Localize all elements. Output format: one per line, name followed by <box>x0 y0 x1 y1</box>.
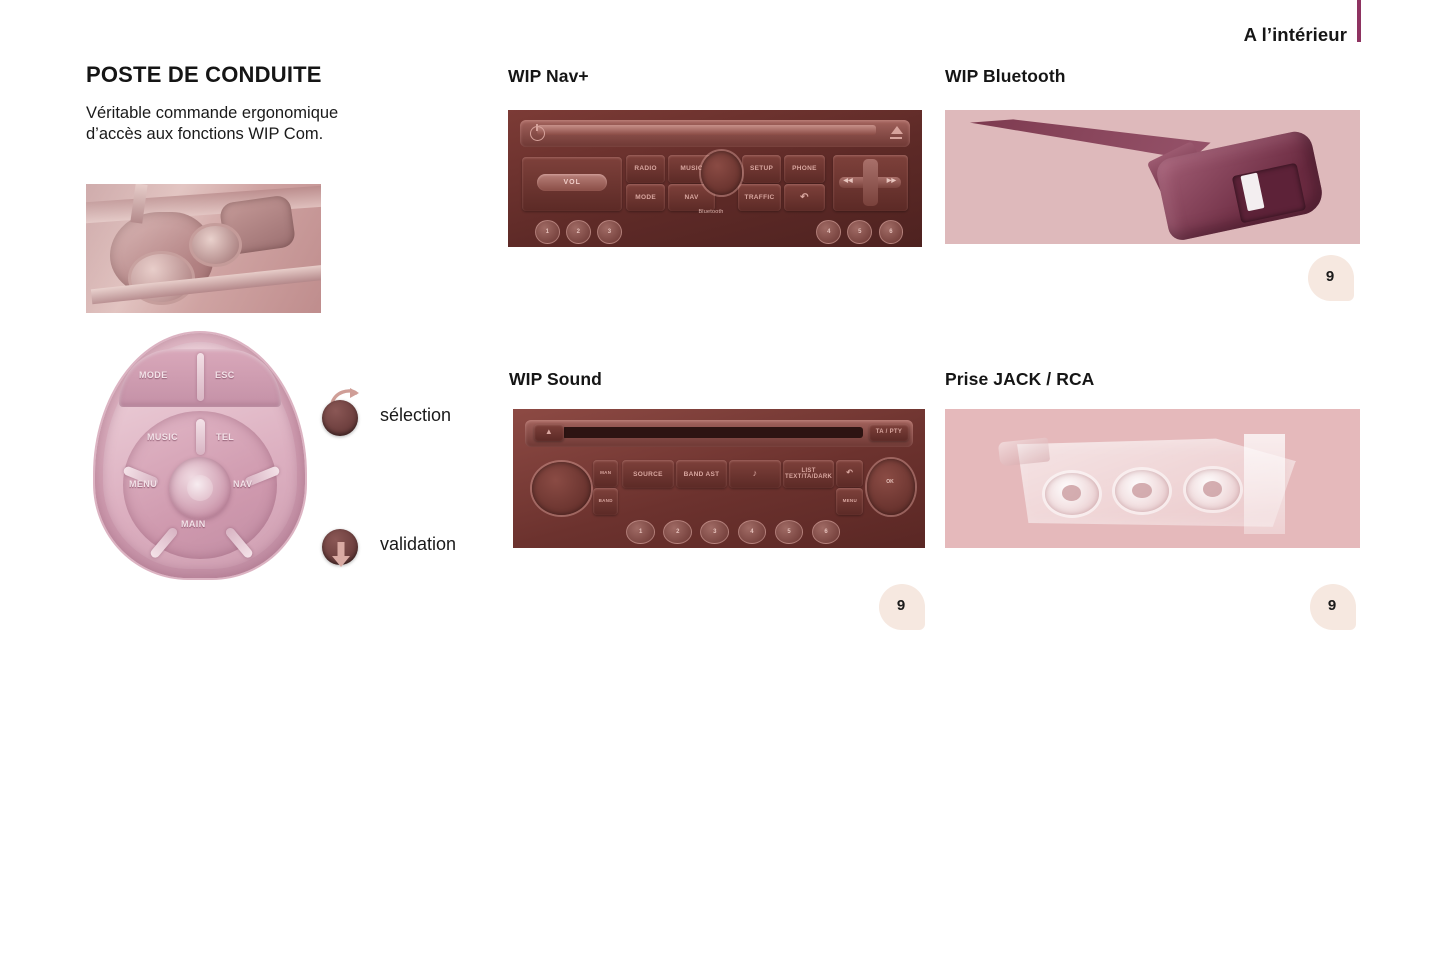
btn-music-note[interactable]: ♪ <box>729 460 781 488</box>
legend-selection-label: sélection <box>380 405 451 426</box>
btn-back[interactable]: ↶ <box>784 184 825 211</box>
swc-button-nav[interactable]: NAV <box>233 479 253 489</box>
preset-2[interactable]: 2 <box>566 220 591 244</box>
btn-menu[interactable]: MENU <box>836 488 863 514</box>
btn-list[interactable]: LIST TEXT/TA/DARK <box>783 460 835 488</box>
preset-5[interactable]: 5 <box>775 520 804 544</box>
btn-ok[interactable]: OK <box>886 479 894 485</box>
navigation-dpad[interactable] <box>867 459 914 515</box>
section-title-prise-jack-rca: Prise JACK / RCA <box>945 369 1094 390</box>
page-header-title: A l’intérieur <box>1244 24 1347 46</box>
legend-validation: validation <box>322 529 358 565</box>
legend-selection: sélection <box>322 400 358 436</box>
intro-paragraph: Véritable commande ergonomique d’accès a… <box>86 103 364 145</box>
swc-button-menu[interactable]: MENU <box>129 479 157 489</box>
btn-radio[interactable]: RADIO <box>626 155 665 182</box>
preset-3[interactable]: 3 <box>597 220 622 244</box>
section-title-wip-bluetooth: WIP Bluetooth <box>945 66 1066 87</box>
press-knob-icon <box>330 538 352 568</box>
btn-setup[interactable]: SETUP <box>742 155 781 182</box>
btn-rewind[interactable]: ◀◀ <box>843 177 852 184</box>
section-title-wip-sound: WIP Sound <box>509 369 602 390</box>
page-reference-badge[interactable]: 9 <box>1310 584 1356 630</box>
usb-connector-photo <box>945 110 1360 244</box>
preset-6[interactable]: 6 <box>812 520 841 544</box>
section-title-wip-nav-plus: WIP Nav+ <box>508 66 589 87</box>
btn-forward[interactable]: ▶▶ <box>887 177 896 184</box>
btn-source[interactable]: SOURCE <box>622 460 674 488</box>
bluetooth-label: Bluetooth <box>698 209 723 215</box>
btn-band-side[interactable]: BAND <box>593 488 618 514</box>
btn-band[interactable]: BAND AST <box>676 460 728 488</box>
preset-5[interactable]: 5 <box>847 220 872 244</box>
btn-man[interactable]: MAN <box>593 460 618 486</box>
volume-control[interactable]: VOL <box>537 174 607 190</box>
legend-validation-label: validation <box>380 534 456 555</box>
btn-phone[interactable]: PHONE <box>784 155 825 182</box>
preset-3[interactable]: 3 <box>700 520 729 544</box>
preset-6[interactable]: 6 <box>879 220 904 244</box>
wip-sound-radio-photo: ▲ TA / PTY MAN BAND SOURCE BAND AST ♪ LI… <box>513 409 925 548</box>
swc-button-music[interactable]: MUSIC <box>147 432 178 442</box>
preset-2[interactable]: 2 <box>663 520 692 544</box>
eject-icon <box>891 126 903 134</box>
preset-1[interactable]: 1 <box>535 220 560 244</box>
swc-button-tel[interactable]: TEL <box>216 432 234 442</box>
jack-rca-socket-photo <box>945 409 1360 548</box>
btn-back[interactable]: ↶ <box>836 460 863 486</box>
preset-1[interactable]: 1 <box>626 520 655 544</box>
swc-button-esc[interactable]: ESC <box>215 370 235 380</box>
swc-button-mode[interactable]: MODE <box>139 370 168 380</box>
page-reference-badge[interactable]: 9 <box>879 584 925 630</box>
preset-4[interactable]: 4 <box>738 520 767 544</box>
btn-mode[interactable]: MODE <box>626 184 665 211</box>
manual-page: A l’intérieur 11 PRISE en MAIN 1 POSTE D… <box>0 0 1445 964</box>
page-reference-badge[interactable]: 9 <box>1308 255 1354 301</box>
steering-wheel-control-diagram: MODE ESC MUSIC TEL MENU NAV MAIN <box>95 333 305 578</box>
btn-traffic[interactable]: TRAFFIC <box>738 184 781 211</box>
wip-nav-plus-radio-photo: VOL RADIO MUSIC SETUP PHONE MODE NAV TRA… <box>508 110 922 247</box>
side-tab-column: 11 PRISE en MAIN 1 <box>1371 0 1445 964</box>
volume-rotary-knob[interactable] <box>532 462 592 515</box>
center-rotary-knob[interactable] <box>701 151 742 195</box>
page-title: POSTE DE CONDUITE <box>86 62 322 88</box>
eject-icon[interactable]: ▲ <box>534 424 565 441</box>
driver-position-photo <box>86 184 321 313</box>
header-rule <box>1357 0 1361 42</box>
preset-4[interactable]: 4 <box>816 220 841 244</box>
selection-knob[interactable] <box>322 400 358 436</box>
swc-button-main[interactable]: MAIN <box>181 519 206 529</box>
btn-ta-pty[interactable]: TA / PTY <box>869 424 908 441</box>
